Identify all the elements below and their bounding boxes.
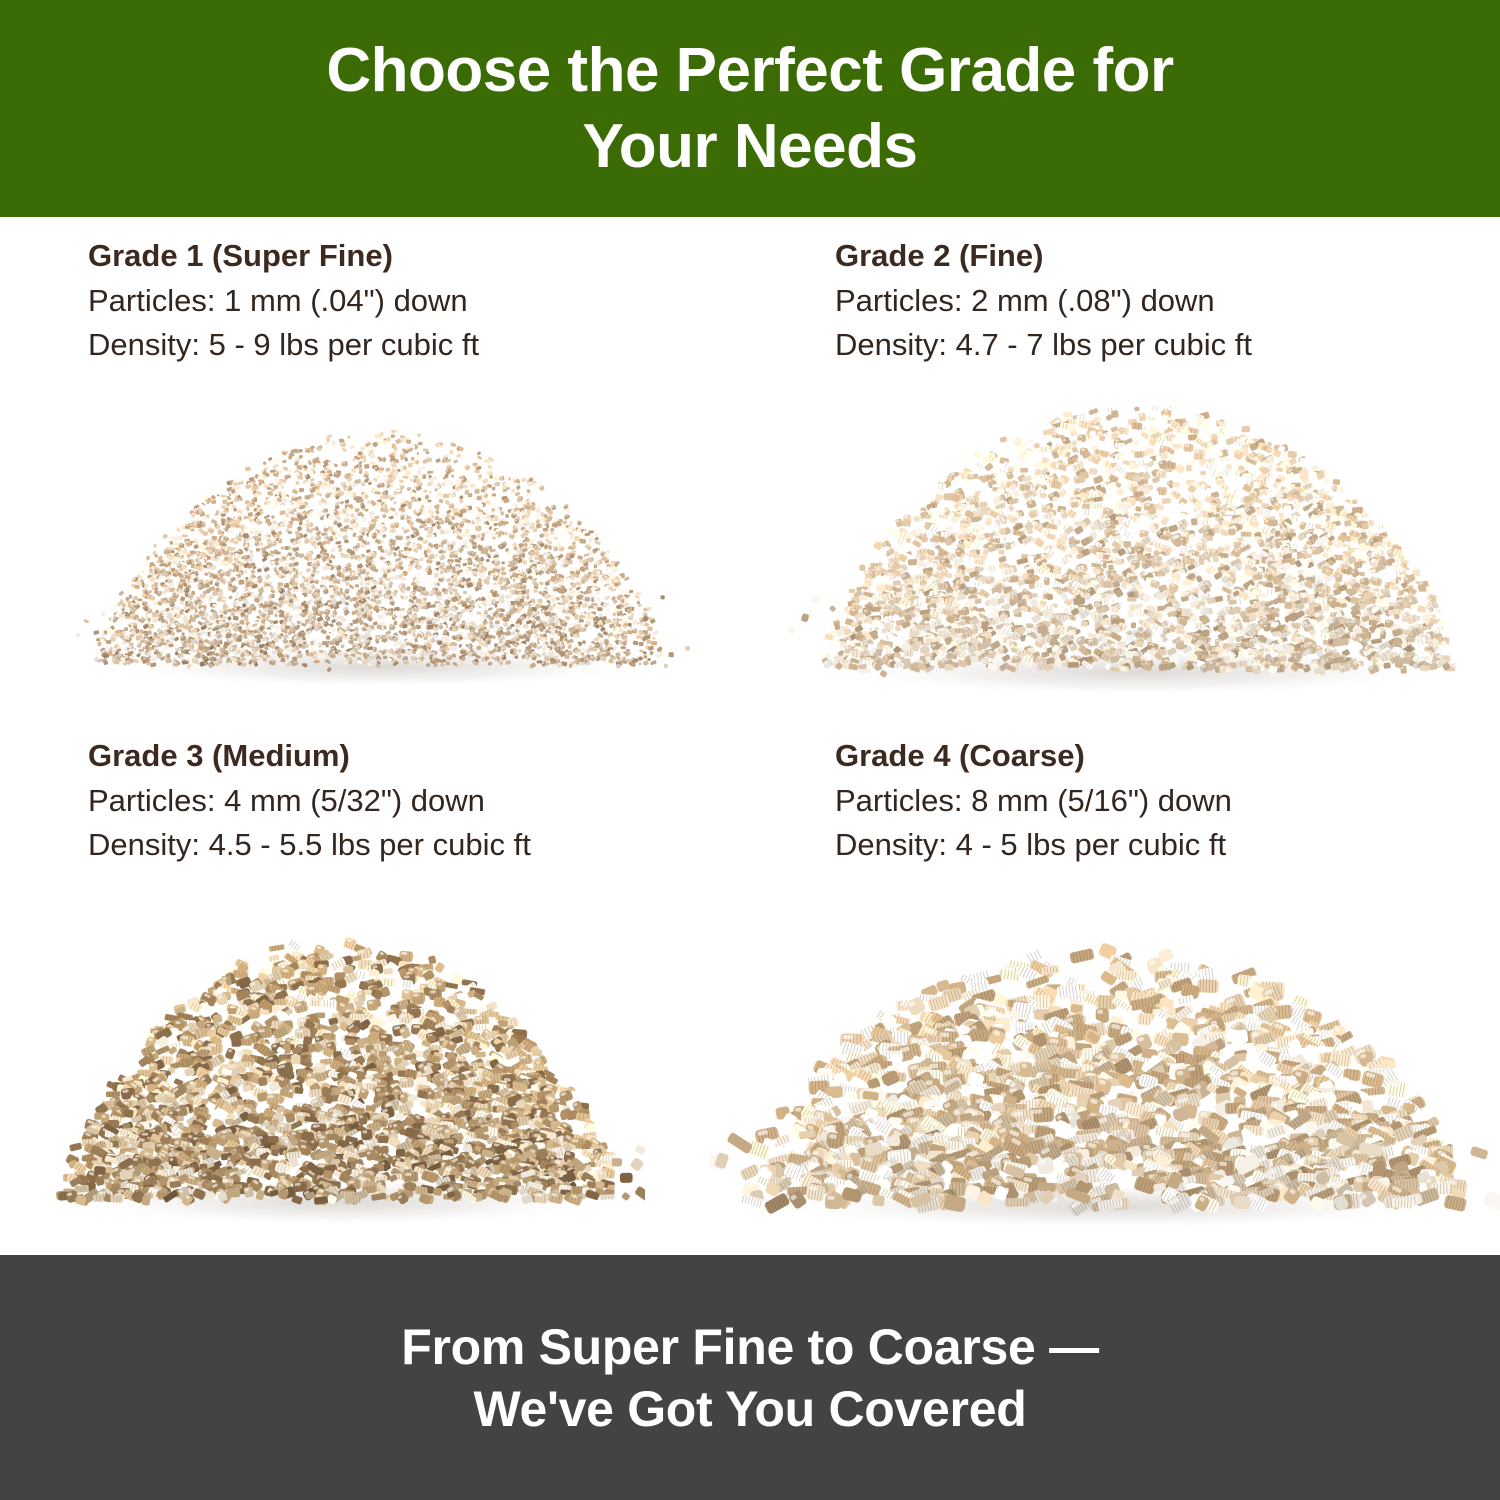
grade-4-heading: Grade 4 (Coarse) [835,735,1475,777]
footer-title-line-1: From Super Fine to Coarse — [401,1316,1099,1378]
grade-4-particles: Particles: 8 mm (5/16") down [835,779,1475,823]
grade-1-text-block: Grade 1 (Super Fine) Particles: 1 mm (.0… [88,235,728,367]
grade-4-density: Density: 4 - 5 lbs per cubic ft [835,823,1475,867]
grade-2-density: Density: 4.7 - 7 lbs per cubic ft [835,323,1475,367]
grade-1-pile-image [70,403,690,693]
grade-card-3: Grade 3 (Medium) Particles: 4 mm (5/32")… [0,717,750,1236]
grade-3-heading: Grade 3 (Medium) [88,735,728,777]
footer-title-line-2: We've Got You Covered [474,1378,1027,1440]
grade-4-text-block: Grade 4 (Coarse) Particles: 8 mm (5/16")… [835,735,1475,867]
grade-card-4: Grade 4 (Coarse) Particles: 8 mm (5/16")… [750,717,1500,1236]
grade-2-heading: Grade 2 (Fine) [835,235,1475,277]
header-title-line-1: Choose the Perfect Grade for [326,33,1173,109]
grade-card-2: Grade 2 (Fine) Particles: 2 mm (.08") do… [750,217,1500,736]
grade-3-particles: Particles: 4 mm (5/32") down [88,779,728,823]
grade-2-pile-image [788,372,1488,702]
grade-1-heading: Grade 1 (Super Fine) [88,235,728,277]
grade-3-text-block: Grade 3 (Medium) Particles: 4 mm (5/32")… [88,735,728,867]
grade-2-particles: Particles: 2 mm (.08") down [835,279,1475,323]
grade-card-1: Grade 1 (Super Fine) Particles: 1 mm (.0… [0,217,750,736]
grade-3-pile-image [35,907,645,1232]
grade-1-density: Density: 5 - 9 lbs per cubic ft [88,323,728,367]
header-title-line-2: Your Needs [583,109,918,185]
infographic-page: Choose the Perfect Grade for Your Needs … [0,0,1500,1500]
footer-banner: From Super Fine to Coarse — We've Got Yo… [0,1255,1500,1500]
grade-3-density: Density: 4.5 - 5.5 lbs per cubic ft [88,823,728,867]
grade-2-text-block: Grade 2 (Fine) Particles: 2 mm (.08") do… [835,235,1475,367]
grade-grid: Grade 1 (Super Fine) Particles: 1 mm (.0… [0,217,1500,1255]
grade-1-particles: Particles: 1 mm (.04") down [88,279,728,323]
header-banner: Choose the Perfect Grade for Your Needs [0,0,1500,217]
grade-4-pile-image [710,917,1500,1235]
